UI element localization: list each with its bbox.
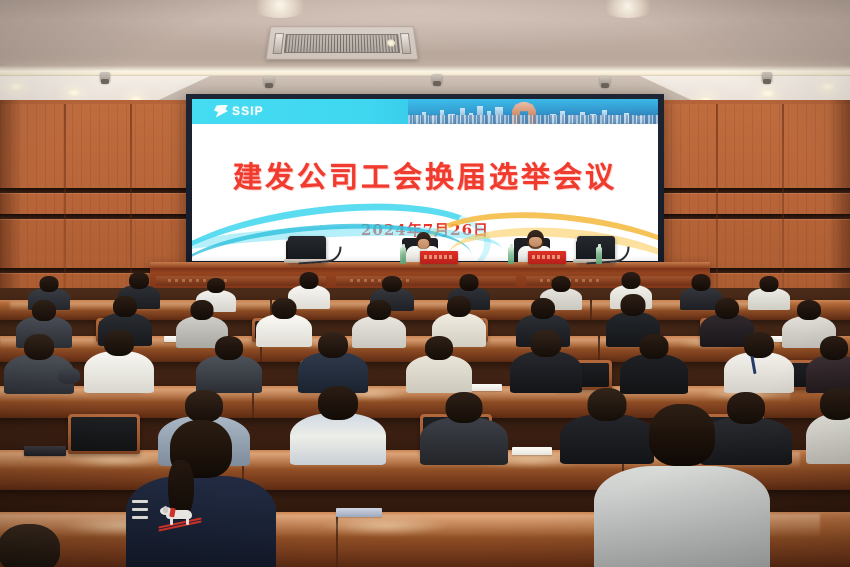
- wall-seam: [716, 104, 718, 300]
- recessed-downlight: [66, 88, 82, 97]
- attendee-torso: [724, 352, 794, 393]
- attendee-head: [797, 300, 821, 320]
- skyline-banner-image: [408, 99, 658, 124]
- attendee: [510, 330, 582, 390]
- attendee-head: [382, 276, 402, 292]
- attendee-head: [715, 298, 739, 319]
- wall-seam: [64, 104, 66, 300]
- desk-seam: [598, 336, 600, 362]
- attendee-head: [32, 300, 56, 321]
- attendee-head: [460, 274, 479, 291]
- wall-groove: [662, 188, 850, 193]
- sleeve-stripe: [132, 500, 148, 503]
- attendee: [84, 330, 154, 390]
- attendee: [290, 386, 386, 460]
- attendee-head: [318, 386, 358, 420]
- attendee: [806, 336, 850, 390]
- attendee-head: [207, 278, 225, 293]
- attendee-head: [191, 300, 214, 320]
- attendee-head: [621, 294, 646, 316]
- attendee-torso: [806, 414, 850, 464]
- attendee-head: [113, 296, 137, 317]
- ceiling-speaker-icon: [100, 72, 110, 83]
- presenter-head: [416, 232, 431, 249]
- attendee-arm: [58, 368, 80, 384]
- water-bottle-icon: [596, 247, 602, 264]
- attendee-head: [425, 336, 453, 360]
- attendee-head: [531, 298, 555, 319]
- name-placard: [528, 251, 566, 264]
- attendee-head: [649, 404, 715, 466]
- wall-seam: [130, 104, 132, 300]
- dog-leg: [170, 518, 173, 525]
- attendee: [406, 336, 472, 390]
- ac-grille: [284, 34, 400, 53]
- sleeve-stripe: [132, 508, 148, 511]
- attendee-head: [104, 330, 134, 356]
- ac-vane-left: [273, 33, 284, 54]
- attendee-torso: [290, 413, 386, 465]
- attendee-head: [552, 276, 571, 292]
- attendee-head: [447, 296, 471, 317]
- attendee-head: [215, 336, 243, 360]
- attendee-head: [0, 524, 60, 567]
- attendee: [0, 524, 68, 567]
- attendee-head: [531, 330, 562, 357]
- ceiling-speaker-icon: [432, 74, 442, 85]
- attendee-head: [622, 272, 641, 289]
- skyline-base-strip: [408, 115, 658, 124]
- attendee-torso: [84, 351, 154, 393]
- ac-indicator-light: [387, 39, 396, 46]
- attendee-head: [820, 388, 850, 420]
- attendee-head: [129, 272, 149, 289]
- ceiling-light-sheen: [0, 0, 850, 72]
- attendee-head: [185, 390, 223, 422]
- attendee-torso: [420, 417, 508, 465]
- notebook: [24, 446, 66, 456]
- conference-room-photo: SSIP 建发公司工会换届选举会议 2024年7月26日: [0, 0, 850, 567]
- ssip-logo-text: SSIP: [232, 104, 264, 118]
- presenter-head: [527, 230, 544, 249]
- ceiling-speaker-icon: [600, 76, 610, 87]
- attendee-torso: [406, 355, 472, 393]
- slide-title: 建发公司工会换届选举会议: [192, 154, 658, 196]
- attendee-head: [446, 392, 483, 423]
- attendee: [196, 336, 262, 390]
- paper-document: [512, 447, 552, 455]
- recessed-downlight: [760, 89, 776, 98]
- presenter-face: [529, 237, 542, 247]
- ssip-logo: SSIP: [214, 104, 264, 118]
- attendee-head: [24, 334, 54, 360]
- attendee: [620, 334, 688, 390]
- desk-reflection: [320, 516, 450, 536]
- attendee: [298, 332, 368, 390]
- name-placard: [420, 251, 458, 264]
- attendee: [594, 404, 770, 567]
- attendee-torso: [594, 466, 770, 567]
- attendee-head: [272, 298, 297, 319]
- ssip-swirl-logo-icon: [214, 105, 228, 118]
- paper-document: [468, 384, 502, 391]
- attendee-head: [300, 272, 319, 289]
- attendee-head: [692, 274, 711, 291]
- attendee-head: [40, 276, 59, 292]
- sleeve-stripe: [132, 516, 148, 519]
- dog-ear: [163, 506, 168, 513]
- attendee: [4, 334, 74, 390]
- water-bottle-icon: [508, 247, 514, 264]
- attendee: [420, 392, 508, 460]
- desk-seam: [590, 300, 592, 320]
- recessed-downlight: [8, 82, 24, 91]
- ceiling-speaker-icon: [264, 76, 274, 87]
- dog-leg: [186, 518, 189, 525]
- attendee: [724, 332, 794, 390]
- attendee-head: [744, 332, 774, 358]
- attendee-torso: [196, 355, 262, 393]
- attendee-torso: [510, 351, 582, 393]
- presenter-face: [418, 239, 429, 249]
- wall-seam: [782, 104, 784, 300]
- attendee: [806, 388, 850, 460]
- attendee-head: [318, 332, 348, 358]
- ceiling-speaker-icon: [762, 72, 772, 83]
- water-bottle-icon: [400, 247, 406, 264]
- wall-groove: [0, 188, 190, 193]
- dachshund-graphic-icon: [160, 506, 200, 528]
- attendee-head: [820, 336, 848, 360]
- ceiling-air-conditioner-icon: [266, 26, 419, 59]
- recessed-downlight: [820, 82, 836, 91]
- wall-groove: [0, 214, 190, 219]
- attendee-head: [760, 276, 779, 292]
- ac-vane-right: [400, 33, 411, 54]
- wall-groove: [662, 214, 850, 219]
- attendee-with-graphic-shirt: [126, 420, 276, 567]
- attendee-head: [367, 300, 391, 320]
- attendee-head: [640, 334, 669, 359]
- paper-document: [336, 508, 382, 517]
